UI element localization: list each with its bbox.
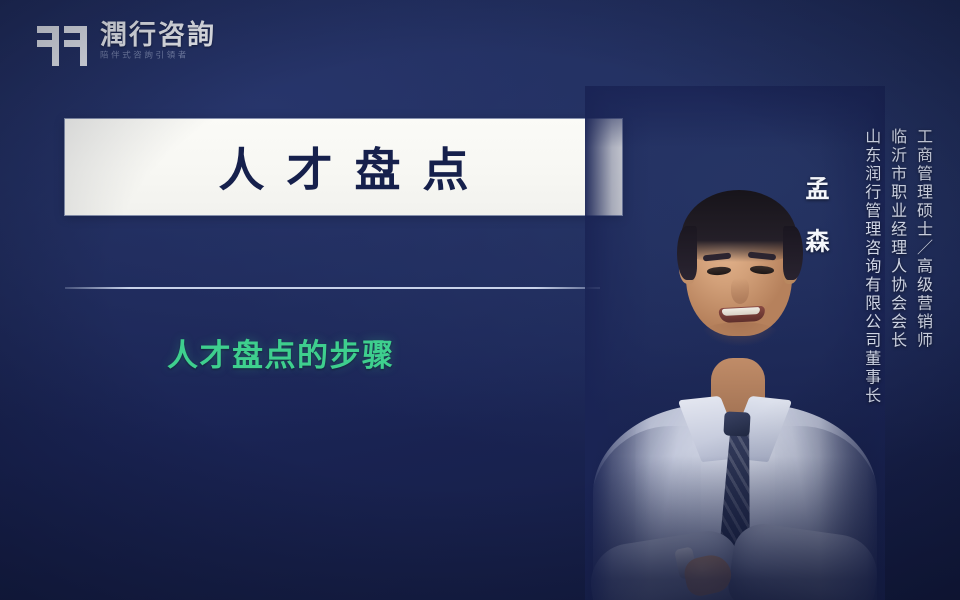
speaker-name: 孟 森	[798, 176, 833, 262]
brand-wordmark: 潤行咨詢	[100, 22, 216, 49]
title-card: 人才盘点	[65, 119, 622, 215]
runxing-double-seven-mark-icon	[36, 24, 88, 68]
credential-line-1: 工商管理硕士／高级营销师	[914, 128, 932, 350]
speaker-hair-side-left	[677, 226, 697, 280]
page-title: 人才盘点	[197, 134, 491, 200]
divider-line	[65, 287, 600, 289]
speaker-necktie-knot	[723, 411, 750, 436]
speaker-photo	[585, 86, 885, 600]
speaker-hair	[681, 190, 797, 262]
speaker-chin	[701, 322, 779, 346]
speaker-nose	[731, 278, 749, 304]
speaker-credentials: 工商管理硕士／高级营销师 临沂市职业经理人协会会长 山东润行管理咨询有限公司董事…	[862, 128, 932, 406]
brand-logo: 潤行咨詢 陪伴式咨詢引領者	[36, 22, 216, 68]
presentation-slide: 潤行咨詢 陪伴式咨詢引領者 人才盘点 人才盘点的步骤	[0, 0, 960, 600]
brand-tagline: 陪伴式咨詢引領者	[100, 52, 216, 60]
brand-logo-text: 潤行咨詢 陪伴式咨詢引領者	[100, 22, 216, 61]
credential-line-3: 山东润行管理咨询有限公司董事长	[862, 128, 880, 406]
credential-line-2: 临沂市职业经理人协会会长	[888, 128, 906, 350]
section-subtitle: 人才盘点的步骤	[167, 330, 395, 375]
